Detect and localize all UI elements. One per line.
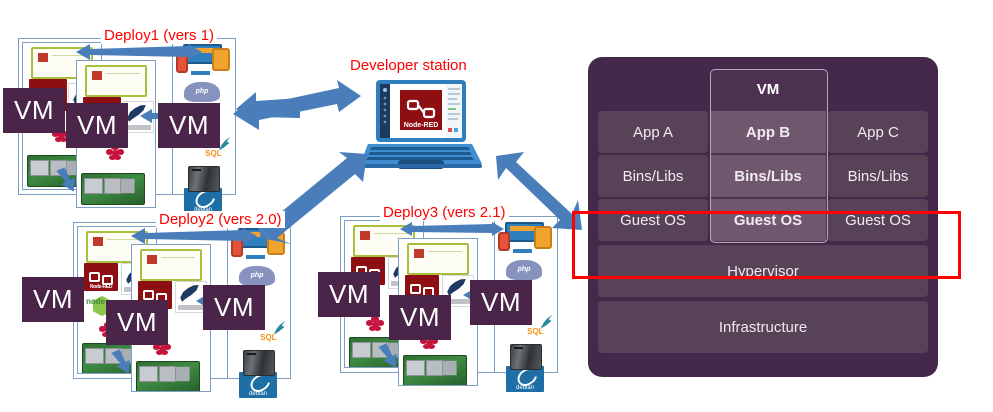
tower-server-icon	[188, 166, 220, 192]
deploy1-bottom-arrow	[58, 166, 82, 192]
cell-binslibs-c: Bins/Libs	[828, 155, 928, 197]
vm-column-title: VM	[710, 69, 826, 109]
deploy1-top-arrow	[76, 44, 202, 60]
raspberry-pi-board-icon	[403, 355, 467, 386]
raspberry-pi-board-icon	[81, 173, 145, 205]
deploy2-bottom-arrow	[113, 348, 137, 374]
vm-badge: VM	[22, 277, 84, 322]
cell-app-a: App A	[598, 111, 708, 153]
screen-flow-icon	[140, 249, 202, 281]
vm-badge: VM	[106, 300, 168, 345]
developer-station-label: Developer station	[347, 57, 470, 74]
vm-badge: VM	[66, 103, 128, 148]
guest-os-highlight-box	[572, 211, 961, 279]
vm-badge: VM	[470, 280, 532, 325]
screenshot-root: Node-RED Node-RED	[0, 0, 993, 412]
vm-badge: VM	[203, 285, 265, 330]
svg-text:Node-RED: Node-RED	[404, 122, 439, 129]
screen-flow-icon	[85, 65, 147, 97]
cell-binslibs-a: Bins/Libs	[598, 155, 708, 197]
vm-badge: VM	[318, 272, 380, 317]
tower-server-icon	[510, 344, 542, 370]
deploy3-label: Deploy3 (vers 2.1)	[380, 204, 509, 221]
connector-arrow-deploy3	[496, 152, 582, 238]
deployment-diagram: Node-RED Node-RED	[0, 0, 580, 412]
mysql-caption: SQL	[205, 149, 221, 158]
raspberry-pi-board-icon	[136, 361, 200, 392]
tower-server-icon	[243, 350, 275, 376]
deploy3-top-arrow	[400, 222, 504, 236]
deploy2-label: Deploy2 (vers 2.0)	[156, 211, 285, 228]
php-elephant-icon	[180, 78, 224, 106]
cell-infrastructure: Infrastructure	[598, 301, 928, 353]
debian-caption: debian	[239, 391, 277, 397]
node-red-icon: Node-RED	[84, 263, 118, 291]
mysql-caption: SQL	[527, 327, 543, 336]
deploy3-bottom-arrow	[380, 342, 404, 368]
cell-app-c: App C	[828, 111, 928, 153]
vm-badge: VM	[158, 103, 220, 148]
nodejs-caption: node	[86, 297, 105, 306]
deploy1-label: Deploy1 (vers 1)	[101, 27, 217, 44]
connector-arrow-deploy2	[255, 152, 377, 244]
debian-caption: debian	[506, 385, 544, 391]
mysql-caption: SQL	[260, 333, 276, 342]
incoming-arrow-right	[236, 88, 300, 130]
screen-flow-icon	[407, 243, 469, 275]
node-red-caption: Node-RED	[84, 284, 118, 290]
vm-badge: VM	[389, 295, 451, 340]
deploy2-top-arrow	[131, 228, 257, 244]
vm-badge: VM	[3, 88, 65, 133]
